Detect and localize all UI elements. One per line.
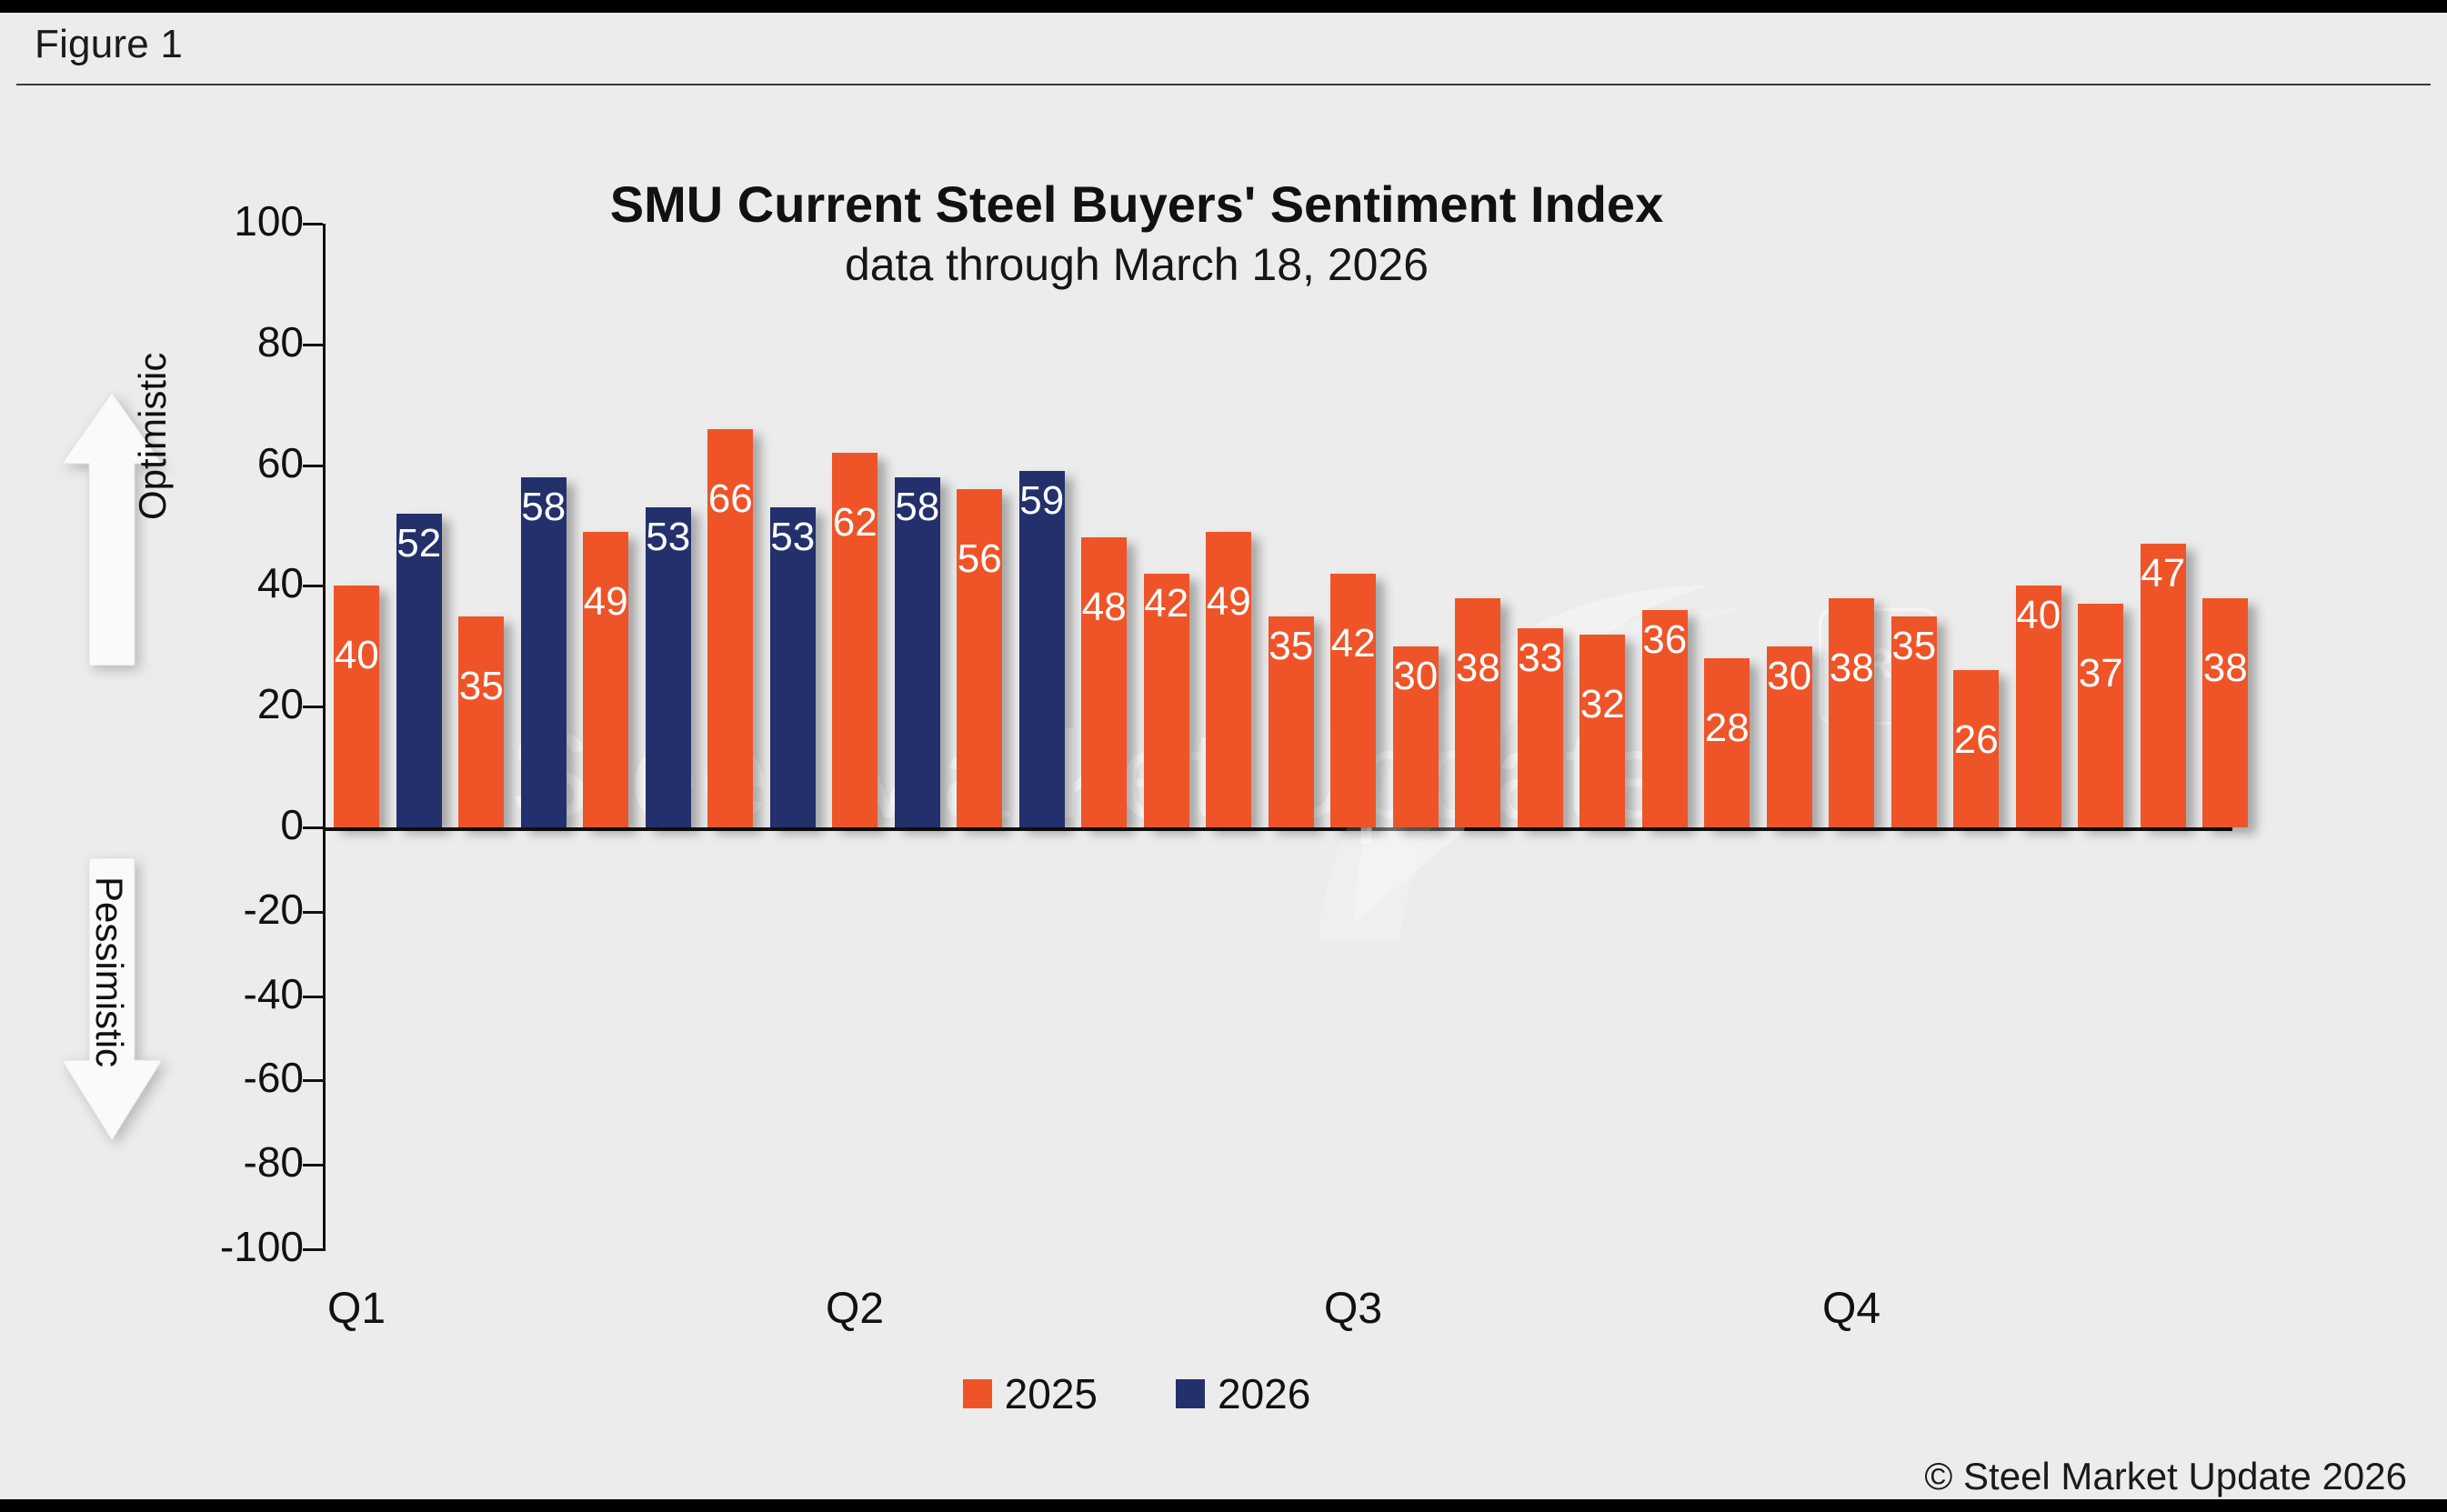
bar-value-label: 53 bbox=[646, 515, 691, 560]
pessimistic-arrow-icon: Pessimistic bbox=[62, 858, 162, 1140]
x-axis-label-q2: Q2 bbox=[826, 1284, 884, 1334]
bar-value-label: 40 bbox=[2016, 593, 2061, 638]
bar: 37 bbox=[2078, 604, 2123, 827]
chart-legend: 20252026 bbox=[0, 1369, 2273, 1418]
legend-label: 2026 bbox=[1218, 1369, 1310, 1418]
bar: 58 bbox=[521, 477, 567, 827]
bar-value-label: 32 bbox=[1580, 682, 1625, 727]
bar: 36 bbox=[1642, 610, 1688, 827]
x-axis-label-q4: Q4 bbox=[1822, 1284, 1880, 1334]
plot-area: 100806040200-20-40-60-80-100 Steel Marke… bbox=[0, 13, 2447, 1499]
bar: 58 bbox=[895, 477, 940, 827]
bar-value-label: 37 bbox=[2078, 651, 2123, 696]
bar: 49 bbox=[1206, 532, 1251, 827]
bar-value-label: 30 bbox=[1767, 654, 1812, 699]
bar: 47 bbox=[2141, 544, 2186, 827]
bar-value-label: 47 bbox=[2141, 551, 2186, 596]
bar: 38 bbox=[1829, 598, 1874, 827]
bar-value-label: 66 bbox=[707, 476, 753, 522]
bar: 49 bbox=[583, 532, 628, 827]
bar-value-label: 36 bbox=[1642, 617, 1688, 663]
bar-value-label: 38 bbox=[1455, 646, 1500, 691]
bar-value-label: 52 bbox=[396, 521, 442, 566]
bar: 42 bbox=[1144, 574, 1189, 827]
legend-item[interactable]: 2025 bbox=[963, 1369, 1098, 1418]
figure-frame: Figure 1 SMU Current Steel Buyers' Senti… bbox=[0, 13, 2447, 1499]
bar: 53 bbox=[770, 507, 816, 827]
bar: 48 bbox=[1081, 537, 1127, 827]
bar-value-label: 42 bbox=[1330, 621, 1376, 666]
x-axis-label-q3: Q3 bbox=[1324, 1284, 1382, 1334]
bar-value-label: 59 bbox=[1019, 478, 1065, 524]
legend-item[interactable]: 2026 bbox=[1176, 1369, 1310, 1418]
bar-value-label: 58 bbox=[521, 485, 567, 530]
bar: 56 bbox=[957, 489, 1002, 827]
bar: 35 bbox=[1269, 616, 1314, 827]
bar-value-label: 53 bbox=[770, 515, 816, 560]
optimistic-label: Optimistic bbox=[131, 353, 175, 520]
bar-value-label: 26 bbox=[1953, 717, 1999, 763]
bar-value-label: 40 bbox=[334, 633, 379, 678]
x-axis-label-q1: Q1 bbox=[327, 1284, 386, 1334]
bar: 35 bbox=[1891, 616, 1937, 827]
bar: 28 bbox=[1704, 658, 1750, 827]
bar-series-container: 4052355849536653625856594842493542303833… bbox=[0, 13, 2447, 1499]
bar-value-label: 35 bbox=[1269, 624, 1314, 669]
bar: 26 bbox=[1953, 670, 1999, 827]
bar: 42 bbox=[1330, 574, 1376, 827]
bar-value-label: 35 bbox=[1891, 624, 1937, 669]
pessimistic-label: Pessimistic bbox=[87, 876, 131, 1067]
bar-value-label: 48 bbox=[1081, 585, 1127, 630]
bar-value-label: 58 bbox=[895, 485, 940, 530]
bar: 30 bbox=[1393, 646, 1439, 827]
bar-value-label: 62 bbox=[832, 500, 878, 546]
bar: 38 bbox=[1455, 598, 1500, 827]
bar: 32 bbox=[1580, 635, 1625, 827]
bar: 62 bbox=[832, 453, 878, 827]
copyright-text: © Steel Market Update 2026 bbox=[1924, 1455, 2407, 1498]
bar-value-label: 35 bbox=[458, 664, 504, 709]
bar: 35 bbox=[458, 616, 504, 827]
bar-value-label: 56 bbox=[957, 536, 1002, 582]
bar: 33 bbox=[1518, 628, 1563, 827]
bar: 52 bbox=[396, 514, 442, 827]
bar: 66 bbox=[707, 429, 753, 827]
bar: 40 bbox=[2016, 586, 2061, 827]
legend-swatch-icon bbox=[963, 1379, 992, 1408]
bar: 30 bbox=[1767, 646, 1812, 827]
bar-value-label: 38 bbox=[2202, 646, 2248, 691]
bar-value-label: 49 bbox=[583, 579, 628, 625]
bar-value-label: 33 bbox=[1518, 636, 1563, 681]
bar-value-label: 42 bbox=[1144, 581, 1189, 626]
bar-value-label: 49 bbox=[1206, 579, 1251, 625]
legend-swatch-icon bbox=[1176, 1379, 1205, 1408]
optimistic-arrow-icon: Optimistic bbox=[62, 393, 162, 666]
bar: 53 bbox=[646, 507, 691, 827]
bar-value-label: 38 bbox=[1829, 646, 1874, 691]
bar: 40 bbox=[334, 586, 379, 827]
bar-value-label: 30 bbox=[1393, 654, 1439, 699]
bar: 59 bbox=[1019, 471, 1065, 827]
legend-label: 2025 bbox=[1005, 1369, 1098, 1418]
bar: 38 bbox=[2202, 598, 2248, 827]
bar-value-label: 28 bbox=[1704, 706, 1750, 751]
